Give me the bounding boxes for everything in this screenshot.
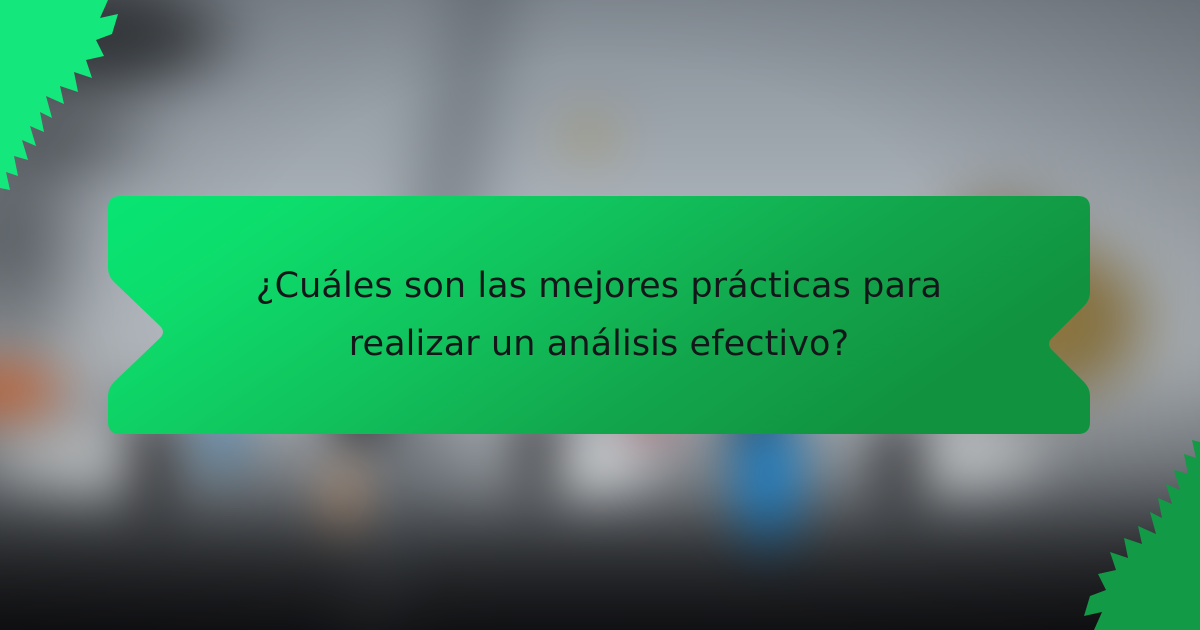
jagged-green-corner-top-left	[0, 0, 200, 210]
jagged-green-corner-bottom-right	[1030, 410, 1200, 630]
quote-ribbon: ¿Cuáles son las mejores prácticas para r…	[108, 196, 1090, 434]
ribbon-line-2: realizar un análisis efectivo?	[349, 316, 850, 372]
ribbon-line-1: ¿Cuáles son las mejores prácticas para	[256, 258, 942, 314]
social-card-canvas: ¿Cuáles son las mejores prácticas para r…	[0, 0, 1200, 630]
ribbon-text-block: ¿Cuáles son las mejores prácticas para r…	[108, 196, 1090, 434]
